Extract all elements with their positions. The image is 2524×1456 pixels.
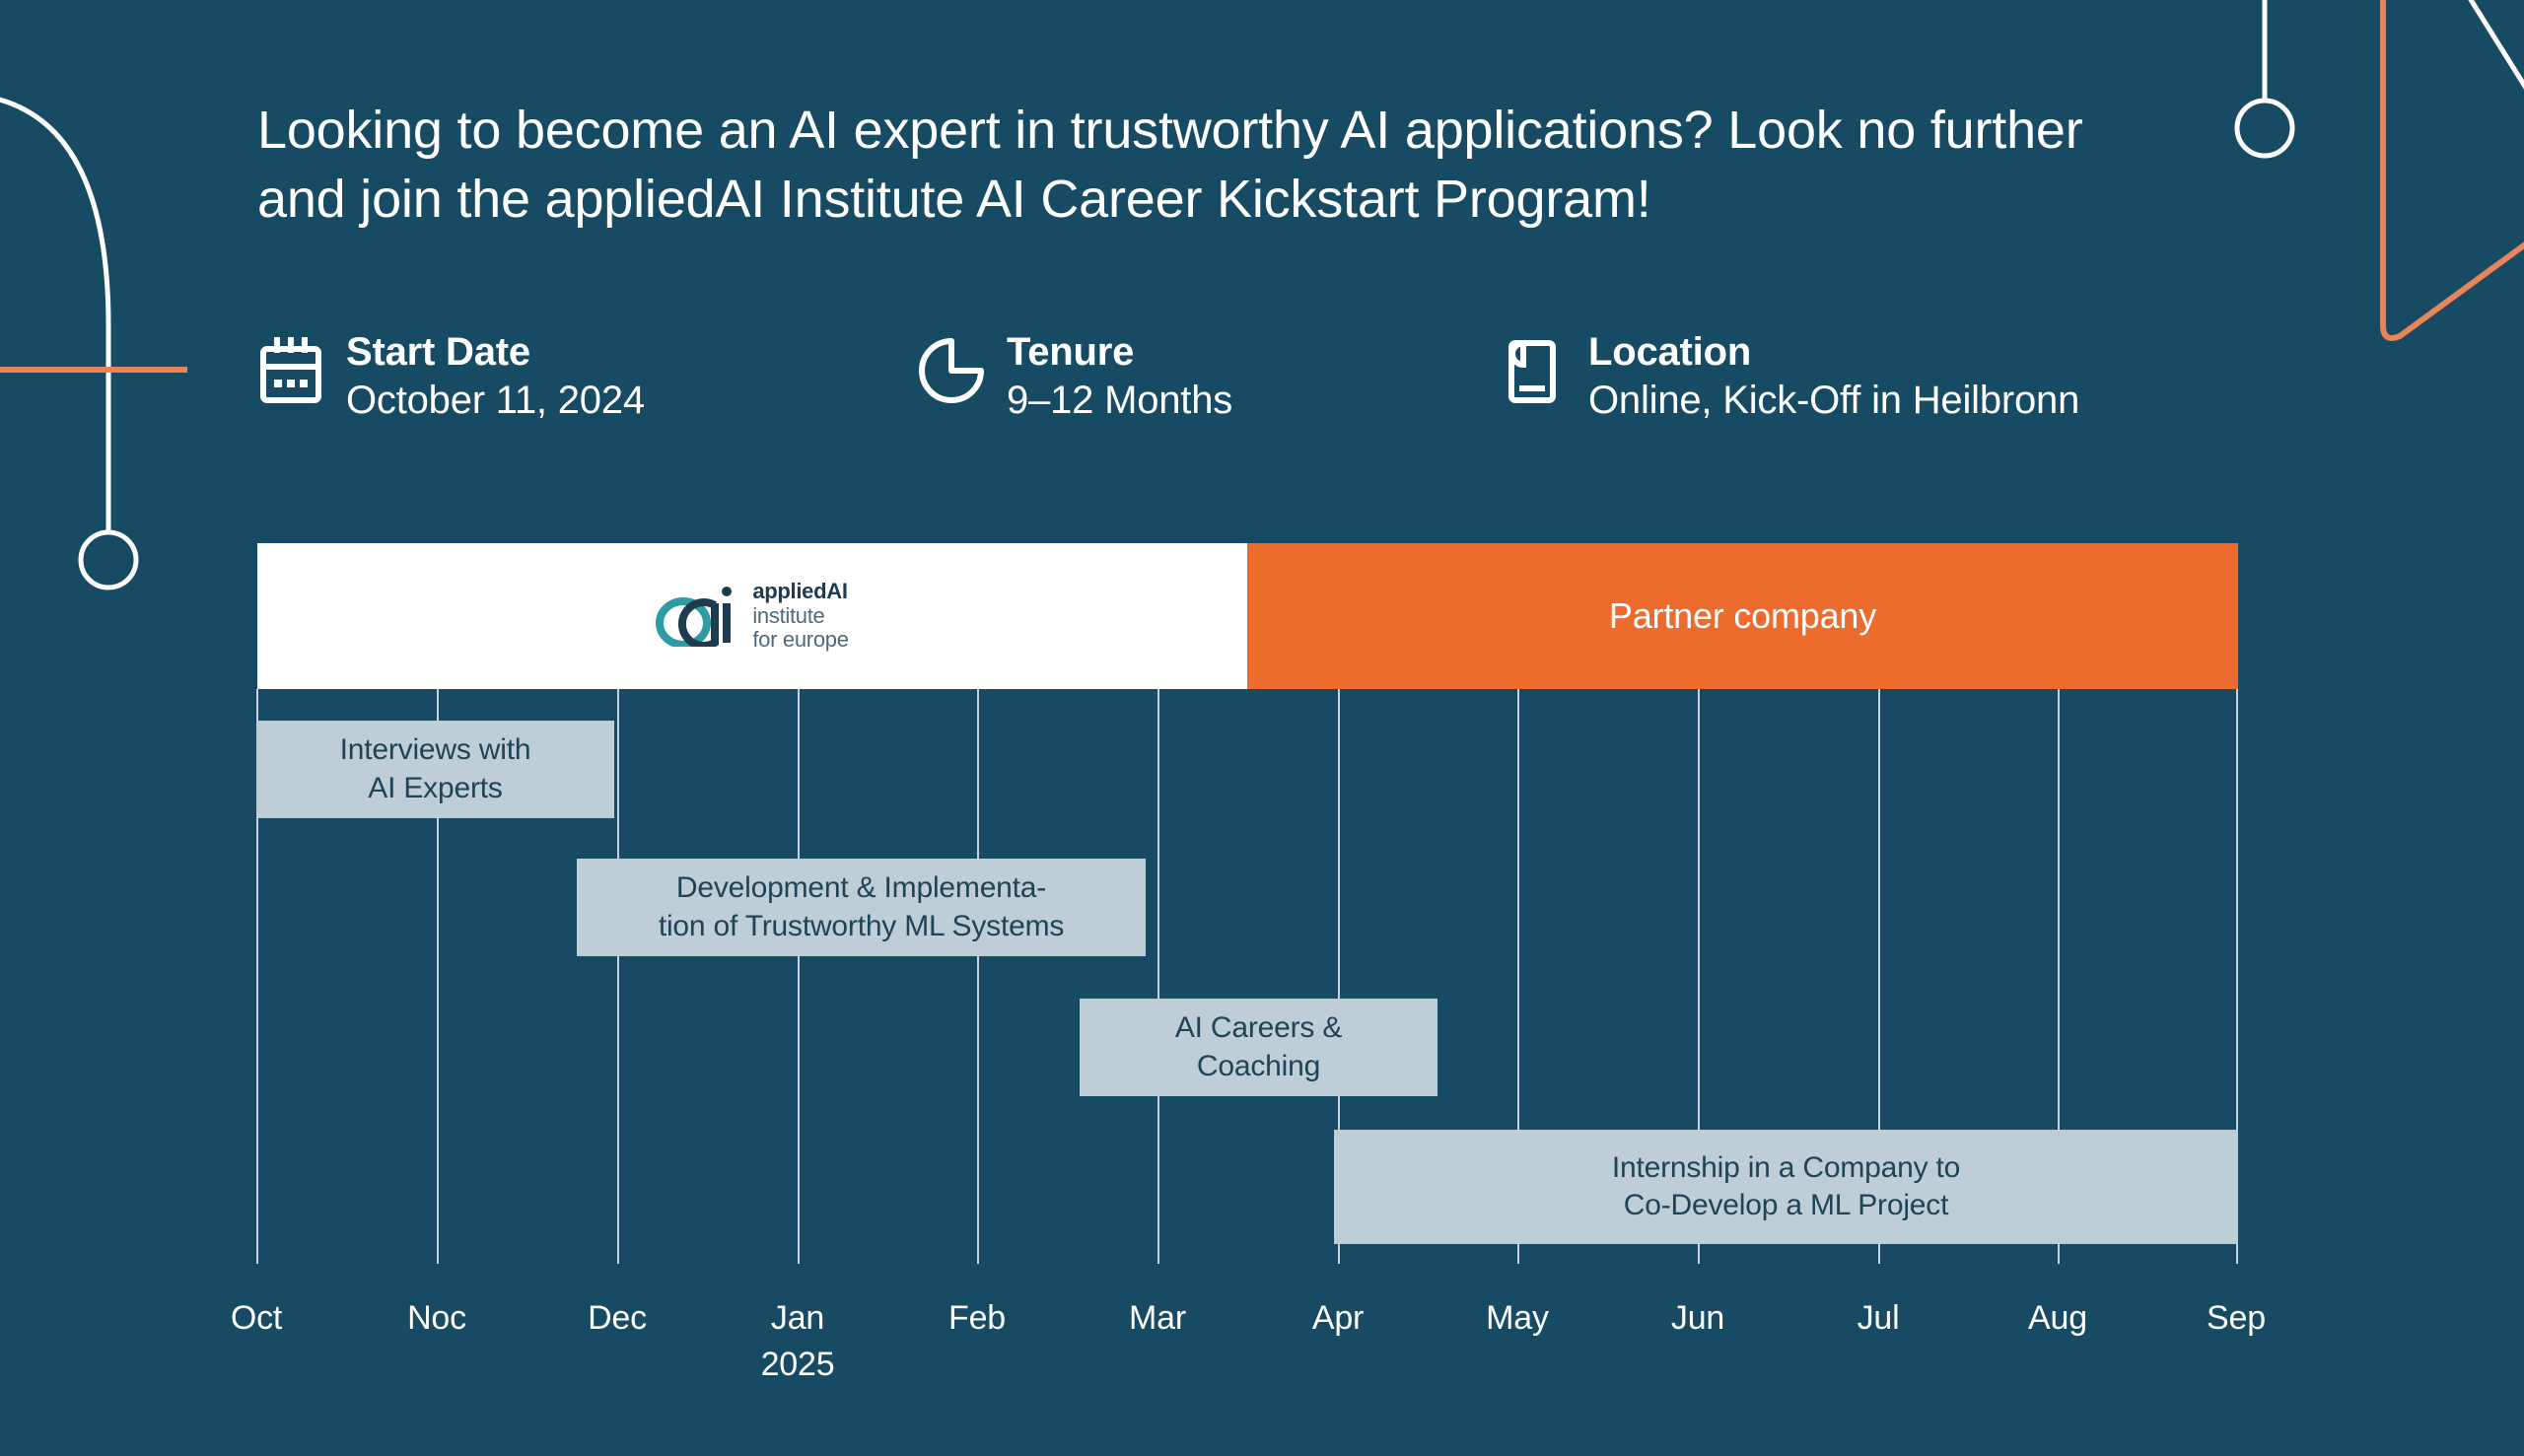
- phase-band-partner-label: Partner company: [1609, 595, 1876, 637]
- axis-label-noc: Noc: [407, 1299, 466, 1338]
- gantt-chart: appliedAI institute for europe Partner c…: [0, 0, 2524, 1456]
- axis-label-jul: Jul: [1858, 1299, 1900, 1338]
- task-bar-label: Interviews withAI Experts: [326, 731, 545, 807]
- axis-label-feb: Feb: [948, 1299, 1006, 1338]
- logo-line-2: institute: [752, 604, 848, 629]
- axis-label-jun: Jun: [1671, 1299, 1724, 1338]
- axis-label-sep: Sep: [2207, 1299, 2266, 1338]
- phase-band-partner-company: Partner company: [1247, 543, 2238, 689]
- task-bar-label: Internship in a Company toCo-Develop a M…: [1598, 1149, 1974, 1225]
- axis-label-oct: Oct: [231, 1299, 282, 1338]
- task-bar-interviews: Interviews withAI Experts: [256, 721, 614, 818]
- axis-label-may: May: [1486, 1299, 1549, 1338]
- axis-label-mar: Mar: [1129, 1299, 1186, 1338]
- gridline: [617, 689, 619, 1264]
- task-bar-internship: Internship in a Company toCo-Develop a M…: [1334, 1130, 2238, 1244]
- axis-label-aug: Aug: [2028, 1299, 2087, 1338]
- task-bar-label: Development & Implementa-tion of Trustwo…: [645, 869, 1078, 945]
- task-bar-development: Development & Implementa-tion of Trustwo…: [577, 859, 1146, 956]
- phase-band-applied-ai: appliedAI institute for europe: [257, 543, 1247, 689]
- logo-line-1: appliedAI: [752, 580, 848, 604]
- logo-line-3: for europe: [752, 628, 848, 653]
- gridline: [1157, 689, 1159, 1264]
- axis-label-dec: Dec: [588, 1299, 647, 1338]
- task-bar-label: AI Careers &Coaching: [1161, 1009, 1356, 1085]
- gridline: [977, 689, 979, 1264]
- axis-label-apr: Apr: [1312, 1299, 1364, 1338]
- axis-label-jan: Jan2025: [761, 1299, 835, 1384]
- poster-canvas: Looking to become an AI expert in trustw…: [0, 0, 2524, 1456]
- gridline: [798, 689, 800, 1264]
- appliedai-logo-icon: [656, 586, 740, 647]
- appliedai-logo: appliedAI institute for europe: [656, 580, 848, 653]
- task-bar-careers: AI Careers &Coaching: [1080, 999, 1437, 1096]
